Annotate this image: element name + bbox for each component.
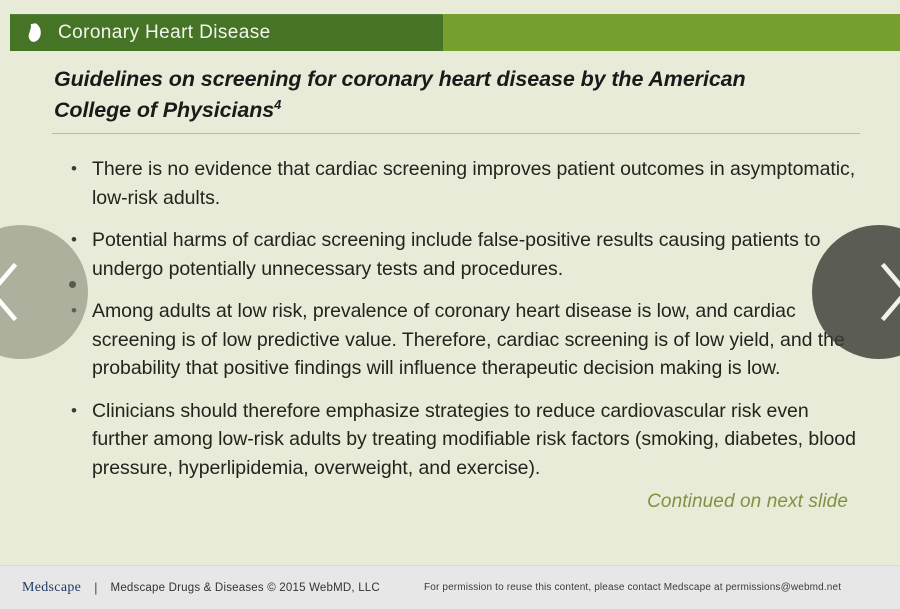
footer-separator: | bbox=[94, 580, 97, 595]
slide-title-line-2: College of Physicians bbox=[54, 98, 274, 122]
medscape-logo: Medscape bbox=[22, 580, 81, 596]
slide-title-line-1: Guidelines on screening for coronary hea… bbox=[54, 67, 746, 91]
title-divider bbox=[52, 133, 860, 134]
topic-header-dark-segment: Coronary Heart Disease bbox=[10, 14, 443, 51]
list-item: • Clinicians should therefore emphasize … bbox=[66, 397, 856, 483]
chevron-left-icon bbox=[0, 260, 24, 324]
continued-note: Continued on next slide bbox=[647, 491, 848, 513]
footer-permission-notice: For permission to reuse this content, pl… bbox=[424, 582, 841, 593]
slide-title-citation: 4 bbox=[274, 96, 281, 111]
list-item-text: Clinicians should therefore emphasize st… bbox=[92, 397, 856, 483]
topic-header-label: Coronary Heart Disease bbox=[58, 22, 271, 44]
heart-droplet-icon bbox=[26, 22, 44, 44]
slide-title: Guidelines on screening for coronary hea… bbox=[54, 64, 844, 125]
list-item: • Among adults at low risk, prevalence o… bbox=[66, 297, 856, 383]
list-item-text: Among adults at low risk, prevalence of … bbox=[92, 297, 856, 383]
bullet-marker-icon: • bbox=[66, 397, 92, 426]
footer-copyright: Medscape Drugs & Diseases © 2015 WebMD, … bbox=[111, 582, 380, 594]
bullet-marker-icon: • bbox=[66, 155, 92, 184]
footer-bar: Medscape | Medscape Drugs & Diseases © 2… bbox=[0, 565, 900, 609]
list-item-text: There is no evidence that cardiac screen… bbox=[92, 155, 856, 212]
list-item: • Potential harms of cardiac screening i… bbox=[66, 226, 856, 283]
bullet-list: • There is no evidence that cardiac scre… bbox=[66, 155, 856, 496]
list-item-text: Potential harms of cardiac screening inc… bbox=[92, 226, 856, 283]
topic-header-light-segment bbox=[443, 14, 900, 51]
slide-container: Coronary Heart Disease Guidelines on scr… bbox=[0, 0, 900, 609]
list-item: • There is no evidence that cardiac scre… bbox=[66, 155, 856, 212]
topic-header-bar: Coronary Heart Disease bbox=[10, 14, 900, 51]
chevron-right-icon bbox=[874, 260, 900, 324]
